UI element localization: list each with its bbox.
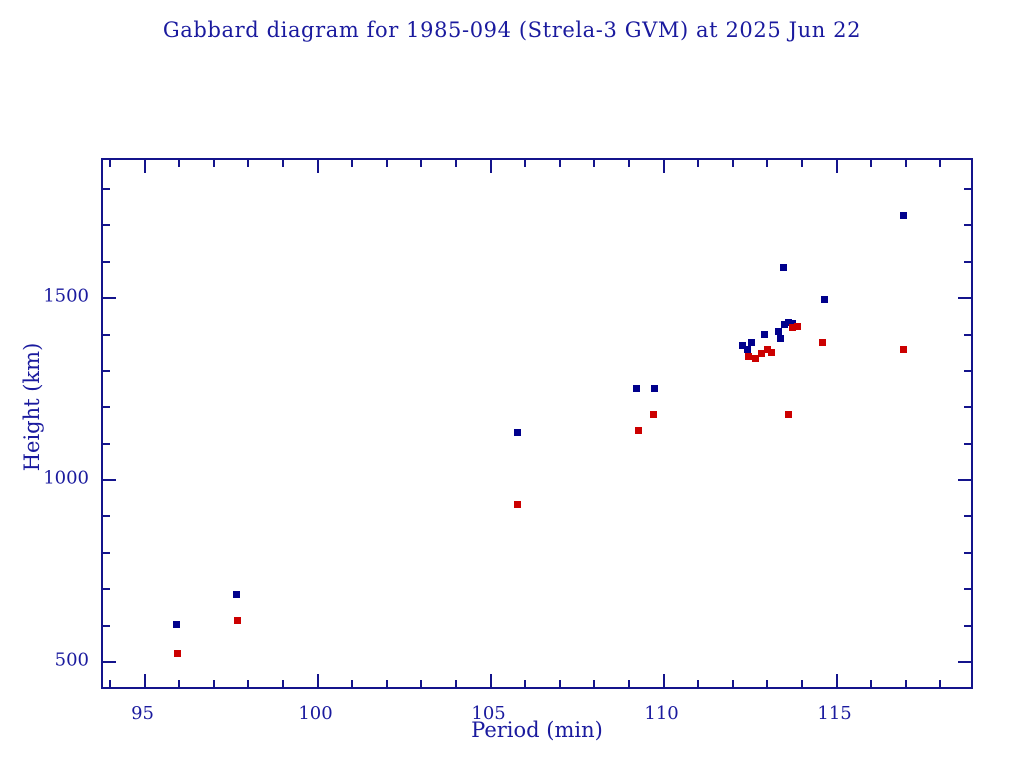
- x-tick-major: [317, 674, 319, 687]
- x-tick-minor: [178, 680, 180, 687]
- x-tick-minor: [732, 680, 734, 687]
- x-tick-top: [213, 160, 215, 167]
- x-tick-minor: [628, 680, 630, 687]
- y-tick-minor: [103, 625, 110, 627]
- x-tick-minor: [905, 680, 907, 687]
- x-tick-top: [801, 160, 803, 167]
- x-tick-top: [317, 160, 319, 173]
- x-tick-minor: [524, 680, 526, 687]
- x-tick-minor: [801, 680, 803, 687]
- data-point-apogee: [233, 591, 240, 598]
- x-tick-minor: [386, 680, 388, 687]
- y-tick-label: 1000: [0, 468, 89, 489]
- y-tick-right: [964, 224, 971, 226]
- x-tick-top: [628, 160, 630, 167]
- x-tick-top: [144, 160, 146, 173]
- data-point-apogee: [821, 296, 828, 303]
- y-tick-right: [958, 661, 971, 663]
- x-tick-top: [247, 160, 249, 167]
- data-point-perigee: [819, 339, 826, 346]
- x-tick-minor: [247, 680, 249, 687]
- y-tick-right: [958, 479, 971, 481]
- y-tick-minor: [103, 406, 110, 408]
- x-tick-top: [178, 160, 180, 167]
- x-tick-top: [455, 160, 457, 167]
- x-tick-major: [144, 674, 146, 687]
- x-tick-top: [420, 160, 422, 167]
- x-tick-minor: [870, 680, 872, 687]
- y-tick-minor: [103, 188, 110, 190]
- x-axis-title: Period (min): [101, 718, 973, 742]
- data-point-perigee: [635, 427, 642, 434]
- x-tick-top: [524, 160, 526, 167]
- y-tick-minor: [103, 443, 110, 445]
- data-point-perigee: [650, 411, 657, 418]
- data-point-apogee: [748, 339, 755, 346]
- x-tick-top: [939, 160, 941, 167]
- y-tick-minor: [103, 370, 110, 372]
- data-point-perigee: [794, 323, 801, 330]
- y-tick-right: [964, 588, 971, 590]
- y-tick-right: [964, 334, 971, 336]
- y-tick-label: 1500: [0, 286, 89, 307]
- data-point-apogee: [761, 331, 768, 338]
- x-tick-top: [593, 160, 595, 167]
- x-tick-major: [836, 674, 838, 687]
- data-point-apogee: [633, 385, 640, 392]
- x-tick-minor: [351, 680, 353, 687]
- x-tick-top: [386, 160, 388, 167]
- x-tick-top: [766, 160, 768, 167]
- x-tick-major: [490, 674, 492, 687]
- x-tick-minor: [420, 680, 422, 687]
- y-tick-right: [964, 552, 971, 554]
- data-point-apogee: [514, 429, 521, 436]
- y-tick-minor: [103, 224, 110, 226]
- y-tick-minor: [103, 261, 110, 263]
- x-tick-top: [732, 160, 734, 167]
- data-point-apogee: [900, 212, 907, 219]
- x-tick-top: [905, 160, 907, 167]
- y-tick-label: 500: [0, 649, 89, 670]
- y-tick-minor: [103, 334, 110, 336]
- data-point-perigee: [234, 617, 241, 624]
- y-tick-major: [103, 479, 116, 481]
- x-tick-top: [351, 160, 353, 167]
- chart-title: Gabbard diagram for 1985-094 (Strela-3 G…: [0, 18, 1024, 42]
- x-tick-top: [870, 160, 872, 167]
- y-tick-minor: [103, 552, 110, 554]
- x-tick-minor: [213, 680, 215, 687]
- x-tick-minor: [766, 680, 768, 687]
- data-point-apogee: [777, 335, 784, 342]
- x-tick-top: [697, 160, 699, 167]
- data-point-perigee: [768, 349, 775, 356]
- x-tick-top: [559, 160, 561, 167]
- data-point-perigee: [514, 501, 521, 508]
- y-tick-major: [103, 661, 116, 663]
- x-tick-top: [282, 160, 284, 167]
- y-tick-right: [964, 406, 971, 408]
- y-tick-major: [103, 297, 116, 299]
- x-tick-minor: [455, 680, 457, 687]
- x-tick-top: [836, 160, 838, 173]
- y-tick-right: [964, 188, 971, 190]
- x-tick-minor: [593, 680, 595, 687]
- plot-frame: [101, 158, 973, 689]
- data-point-perigee: [900, 346, 907, 353]
- y-axis-title: Height (km): [20, 297, 44, 517]
- data-point-apogee: [651, 385, 658, 392]
- y-tick-right: [964, 261, 971, 263]
- x-tick-top: [109, 160, 111, 167]
- data-point-perigee: [174, 650, 181, 657]
- data-points-layer: [103, 160, 971, 687]
- x-tick-top: [663, 160, 665, 173]
- y-tick-minor: [103, 588, 110, 590]
- x-tick-minor: [109, 680, 111, 687]
- x-tick-minor: [939, 680, 941, 687]
- y-tick-minor: [103, 515, 110, 517]
- y-tick-right: [964, 443, 971, 445]
- data-point-perigee: [785, 411, 792, 418]
- x-tick-top: [490, 160, 492, 173]
- data-point-apogee: [173, 621, 180, 628]
- y-tick-right: [964, 515, 971, 517]
- x-tick-minor: [282, 680, 284, 687]
- x-tick-minor: [559, 680, 561, 687]
- y-tick-right: [958, 297, 971, 299]
- x-tick-major: [663, 674, 665, 687]
- y-tick-right: [964, 370, 971, 372]
- data-point-apogee: [780, 264, 787, 271]
- y-tick-right: [964, 625, 971, 627]
- x-tick-minor: [697, 680, 699, 687]
